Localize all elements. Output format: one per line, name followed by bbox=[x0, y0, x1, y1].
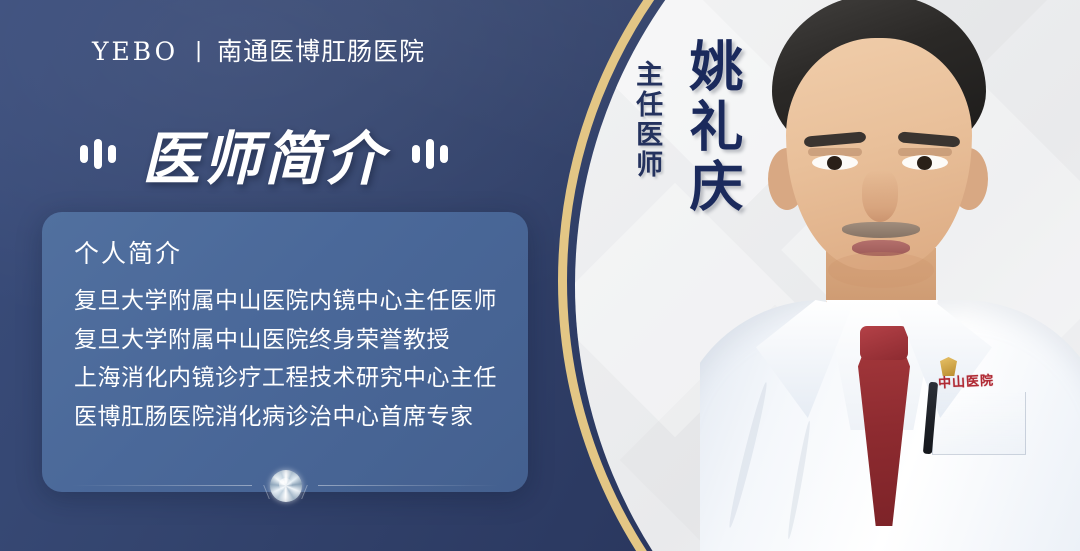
bio-card: 个人简介 复旦大学附属中山医院内镜中心主任医师 复旦大学附属中山医院终身荣誉教授… bbox=[42, 212, 528, 492]
coat-embroidery-text: 中山医院 bbox=[938, 370, 995, 392]
doctor-profile-poster: 中山医院 姚礼庆 主任医师 YEBO 丨 南通医博肛肠医院 医师简介 bbox=[0, 0, 1080, 551]
doctor-name-block: 姚礼庆 主任医师 bbox=[628, 38, 744, 218]
eye-right bbox=[902, 155, 948, 170]
page-title-row: 医师简介 bbox=[80, 112, 448, 196]
brand-latin-name: YEBO bbox=[92, 37, 178, 66]
brand-separator-icon: 丨 bbox=[187, 33, 210, 67]
mustache bbox=[842, 222, 920, 238]
doctor-portrait: 中山医院 bbox=[700, 0, 1080, 551]
bio-line: 上海消化内镜诊疗工程技术研究中心主任 bbox=[74, 358, 528, 397]
chin bbox=[828, 252, 934, 288]
nose bbox=[862, 170, 898, 222]
pupil bbox=[917, 156, 932, 170]
eye-left bbox=[812, 155, 858, 170]
brand-header: YEBO 丨 南通医博肛肠医院 bbox=[92, 32, 425, 68]
bio-heading: 个人简介 bbox=[74, 234, 528, 270]
divider-tick-left bbox=[245, 485, 270, 499]
necktie-knot bbox=[860, 326, 908, 360]
bio-line: 复旦大学附属中山医院内镜中心主任医师 bbox=[74, 281, 528, 320]
doctor-name: 姚礼庆 bbox=[678, 38, 744, 218]
brand-chinese-name: 南通医博肛肠医院 bbox=[217, 32, 425, 68]
bio-content: 个人简介 复旦大学附属中山医院内镜中心主任医师 复旦大学附属中山医院终身荣誉教授… bbox=[42, 212, 528, 436]
bio-line: 医博肛肠医院消化病诊治中心首席专家 bbox=[74, 397, 528, 436]
divider-line-right bbox=[318, 485, 498, 486]
divider-line-left bbox=[72, 485, 252, 486]
page-title: 医师简介 bbox=[142, 112, 386, 196]
three-bars-ornament-left-icon bbox=[80, 134, 116, 174]
diamond-gem-icon bbox=[270, 470, 302, 502]
pupil bbox=[827, 156, 842, 170]
divider-tick-right bbox=[301, 485, 326, 499]
bottom-divider bbox=[42, 474, 528, 514]
bio-line: 复旦大学附属中山医院终身荣誉教授 bbox=[74, 320, 528, 359]
three-bars-ornament-right-icon bbox=[412, 134, 448, 174]
doctor-rank: 主任医师 bbox=[628, 60, 664, 180]
coat-pocket bbox=[932, 392, 1026, 455]
